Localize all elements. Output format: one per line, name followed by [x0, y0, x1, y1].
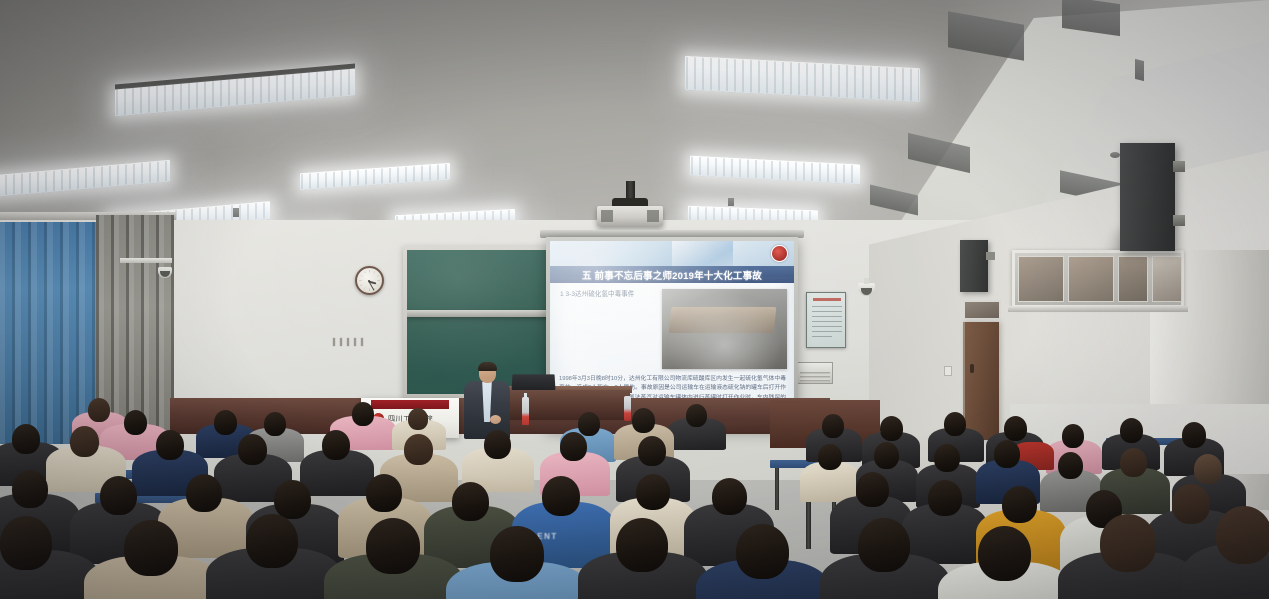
audience-head — [1120, 418, 1143, 443]
window-pane — [1018, 256, 1064, 302]
audience-head — [1120, 448, 1147, 477]
wall-notice-board — [806, 292, 846, 348]
audience-head — [1002, 486, 1037, 523]
audience-head — [856, 472, 889, 507]
audience-head — [1062, 424, 1084, 448]
ceiling-sensor — [1110, 152, 1120, 158]
desk-leg — [775, 468, 779, 510]
audience-head — [934, 444, 960, 472]
audience-head — [1004, 416, 1027, 441]
window-pane — [1068, 256, 1114, 302]
ceiling-sensor — [233, 208, 239, 217]
ceiling-light-panel — [690, 156, 860, 185]
light-switch[interactable] — [944, 366, 952, 376]
audience-head — [736, 524, 789, 579]
audience-head — [124, 410, 147, 435]
slide-accident-photo — [662, 289, 787, 369]
audience-head — [264, 412, 286, 436]
door-handle-icon — [970, 364, 974, 373]
desk-leg — [806, 497, 811, 549]
audience-head — [1058, 452, 1083, 479]
audience-head — [1172, 484, 1210, 524]
audience-head — [928, 480, 962, 516]
window-right[interactable] — [1012, 250, 1184, 308]
audience-head — [70, 426, 99, 457]
slide-title: 五 前事不忘后事之师2019年十大化工事故 — [550, 266, 794, 283]
ceiling-sensor — [1135, 59, 1144, 81]
audience-head — [858, 518, 910, 572]
audience-head — [100, 476, 137, 515]
audience-head — [490, 526, 544, 582]
window-pane — [1118, 256, 1148, 302]
audience-head — [1100, 514, 1156, 572]
audience-head — [818, 444, 842, 470]
audience-head — [352, 402, 374, 426]
audience-head — [246, 514, 298, 568]
audience-head — [616, 518, 668, 572]
audience-head — [12, 424, 40, 454]
ceiling-light-panel — [300, 163, 450, 190]
door-transom — [963, 300, 1001, 320]
wall-clock — [355, 266, 384, 295]
audience-head — [874, 442, 899, 469]
notice-title-bar — [813, 298, 841, 301]
audience-head — [366, 474, 402, 512]
lecture-hall-photo: 五 前事不忘后事之师2019年十大化工事故 1 3-3达州硫化氢中毒事件 199… — [0, 0, 1269, 599]
audience-head — [186, 474, 222, 512]
audience-head — [0, 516, 52, 570]
audience-head — [404, 434, 433, 465]
laptop[interactable] — [512, 374, 556, 390]
audience-head — [124, 520, 178, 576]
audience-head — [238, 434, 267, 465]
audience-head — [560, 432, 587, 461]
slide-logo-icon — [771, 245, 788, 262]
audience-head — [484, 430, 511, 459]
audience-head — [366, 518, 420, 574]
audience-head — [994, 440, 1020, 468]
ceiling-sensor — [728, 198, 734, 206]
slide-photo-haze — [662, 289, 787, 369]
wall-control-box — [795, 362, 833, 384]
audience-head — [1182, 422, 1206, 448]
wall-speaker-small — [960, 240, 988, 292]
audience-head — [632, 408, 655, 433]
presenter-hair — [478, 362, 497, 371]
audience-head — [638, 436, 666, 466]
audience-head — [12, 470, 48, 508]
audience-head — [542, 476, 580, 516]
window-sill — [1008, 306, 1188, 312]
audience-head — [1194, 454, 1222, 484]
ceiling-projector — [597, 206, 663, 226]
camera-mount-arm — [120, 258, 172, 263]
audience-head — [214, 410, 237, 435]
audience-head — [712, 478, 747, 515]
wall-hooks — [333, 338, 367, 347]
audience-head — [452, 482, 489, 521]
audience-head — [822, 414, 844, 438]
wall-speaker-large — [1120, 143, 1175, 251]
audience-head — [578, 412, 600, 436]
audience-head — [322, 430, 350, 460]
window-pane — [1152, 256, 1182, 302]
audience-area: DENT — [0, 398, 1269, 599]
audience-head — [686, 404, 707, 427]
audience-head — [944, 412, 966, 436]
audience-head — [978, 526, 1031, 581]
slide-subtitle: 1 3-3达州硫化氢中毒事件 — [560, 290, 655, 300]
audience-head — [1216, 506, 1269, 564]
audience-head — [408, 408, 428, 430]
audience-head — [88, 398, 110, 422]
audience-head — [274, 480, 311, 519]
audience-head — [636, 474, 670, 510]
audience-head — [156, 430, 184, 460]
audience-head — [880, 416, 903, 441]
